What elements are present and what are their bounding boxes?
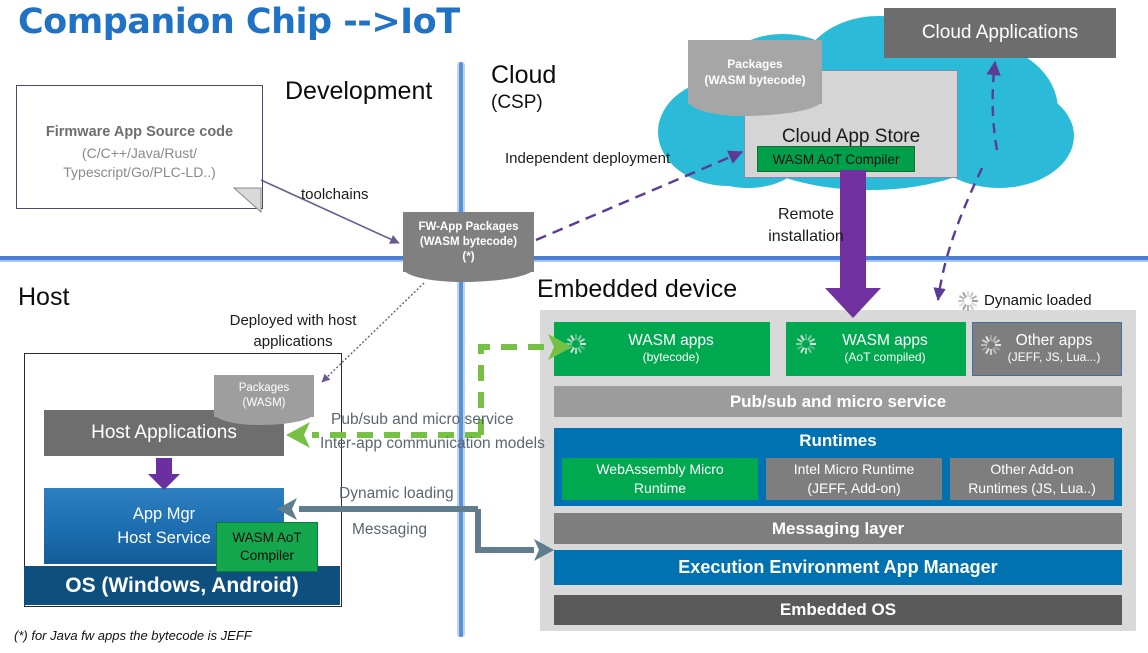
label-toolchains: toolchains	[301, 186, 369, 203]
arrow-overlay	[0, 0, 1148, 653]
label-independent-deployment: Independent deployment	[505, 150, 670, 167]
arrow-host-apps-to-appmgr	[148, 458, 180, 490]
label-remote-installation: Remote installation	[760, 204, 852, 248]
diagram-canvas: Companion Chip -->IoT Development Cloud …	[0, 0, 1148, 653]
label-deployed-line2: applications	[253, 331, 332, 352]
label-inter-app-models: Inter-app communication models	[320, 435, 545, 453]
label-pubsub-micro-service: Pub/sub and micro service	[331, 411, 514, 429]
arrowhead-messaging-right	[534, 539, 554, 561]
arrow-cloud-to-device	[938, 168, 982, 300]
footnote: (*) for Java fw apps the bytecode is JEF…	[14, 628, 252, 643]
label-remote-installation-line1: Remote	[778, 204, 834, 226]
arrowhead-pubsub-right	[548, 334, 572, 360]
arrow-cloud-apps-up	[993, 62, 997, 150]
label-messaging: Messaging	[352, 521, 427, 539]
label-deployed-with-host-apps: Deployed with host applications	[205, 310, 381, 352]
arrowhead-pubsub-left	[286, 422, 310, 448]
label-dynamic-loading: Dynamic loading	[339, 485, 454, 503]
label-deployed-line1: Deployed with host	[230, 310, 357, 331]
arrow-dynamic-loading-vert	[478, 509, 534, 550]
source-box-dogear	[234, 188, 261, 212]
label-remote-installation-line2: installation	[768, 226, 844, 248]
arrowhead-dynamic-loading-left	[277, 498, 297, 520]
